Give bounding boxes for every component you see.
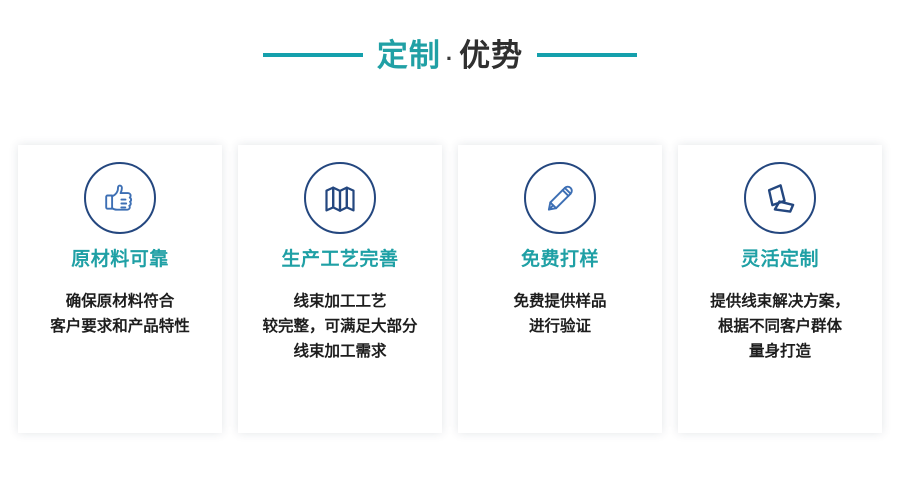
advantage-card-list: 原材料可靠 确保原材料符合 客户要求和产品特性 生产工艺完善 线束加工工艺 较完…: [18, 145, 884, 433]
card-description: 确保原材料符合 客户要求和产品特性: [42, 289, 198, 339]
icon-circle: [84, 162, 156, 234]
advantage-card[interactable]: 免费打样 免费提供样品 进行验证: [458, 145, 662, 433]
advantage-card[interactable]: 灵活定制 提供线束解决方案， 根据不同客户群体 量身打造: [678, 145, 882, 433]
overlapping-papers-icon: [760, 178, 800, 218]
heading-rule-right: [537, 53, 637, 57]
card-title: 免费打样: [521, 250, 599, 271]
heading-rule-left: [263, 53, 363, 57]
page-title-accent: 定制: [377, 40, 441, 71]
card-title: 生产工艺完善: [281, 250, 398, 271]
page-title-plain: 优势: [459, 40, 523, 71]
page-title: 定制 · 优势: [377, 40, 523, 71]
icon-circle: [304, 162, 376, 234]
advantage-card[interactable]: 生产工艺完善 线束加工工艺 较完整，可满足大部分 线束加工需求: [238, 145, 442, 433]
card-title: 灵活定制: [741, 250, 819, 271]
card-description: 免费提供样品 进行验证: [505, 289, 614, 339]
card-description: 提供线束解决方案， 根据不同客户群体 量身打造: [702, 289, 858, 364]
card-description: 线束加工工艺 较完整，可满足大部分 线束加工需求: [254, 289, 425, 364]
section-heading: 定制 · 优势: [0, 30, 900, 80]
thumbs-up-icon: [100, 178, 140, 218]
icon-circle: [744, 162, 816, 234]
folded-map-icon: [320, 178, 360, 218]
page-title-separator: ·: [444, 48, 456, 70]
pencil-icon: [540, 178, 580, 218]
advantage-card[interactable]: 原材料可靠 确保原材料符合 客户要求和产品特性: [18, 145, 222, 433]
card-title: 原材料可靠: [71, 250, 169, 271]
icon-circle: [524, 162, 596, 234]
